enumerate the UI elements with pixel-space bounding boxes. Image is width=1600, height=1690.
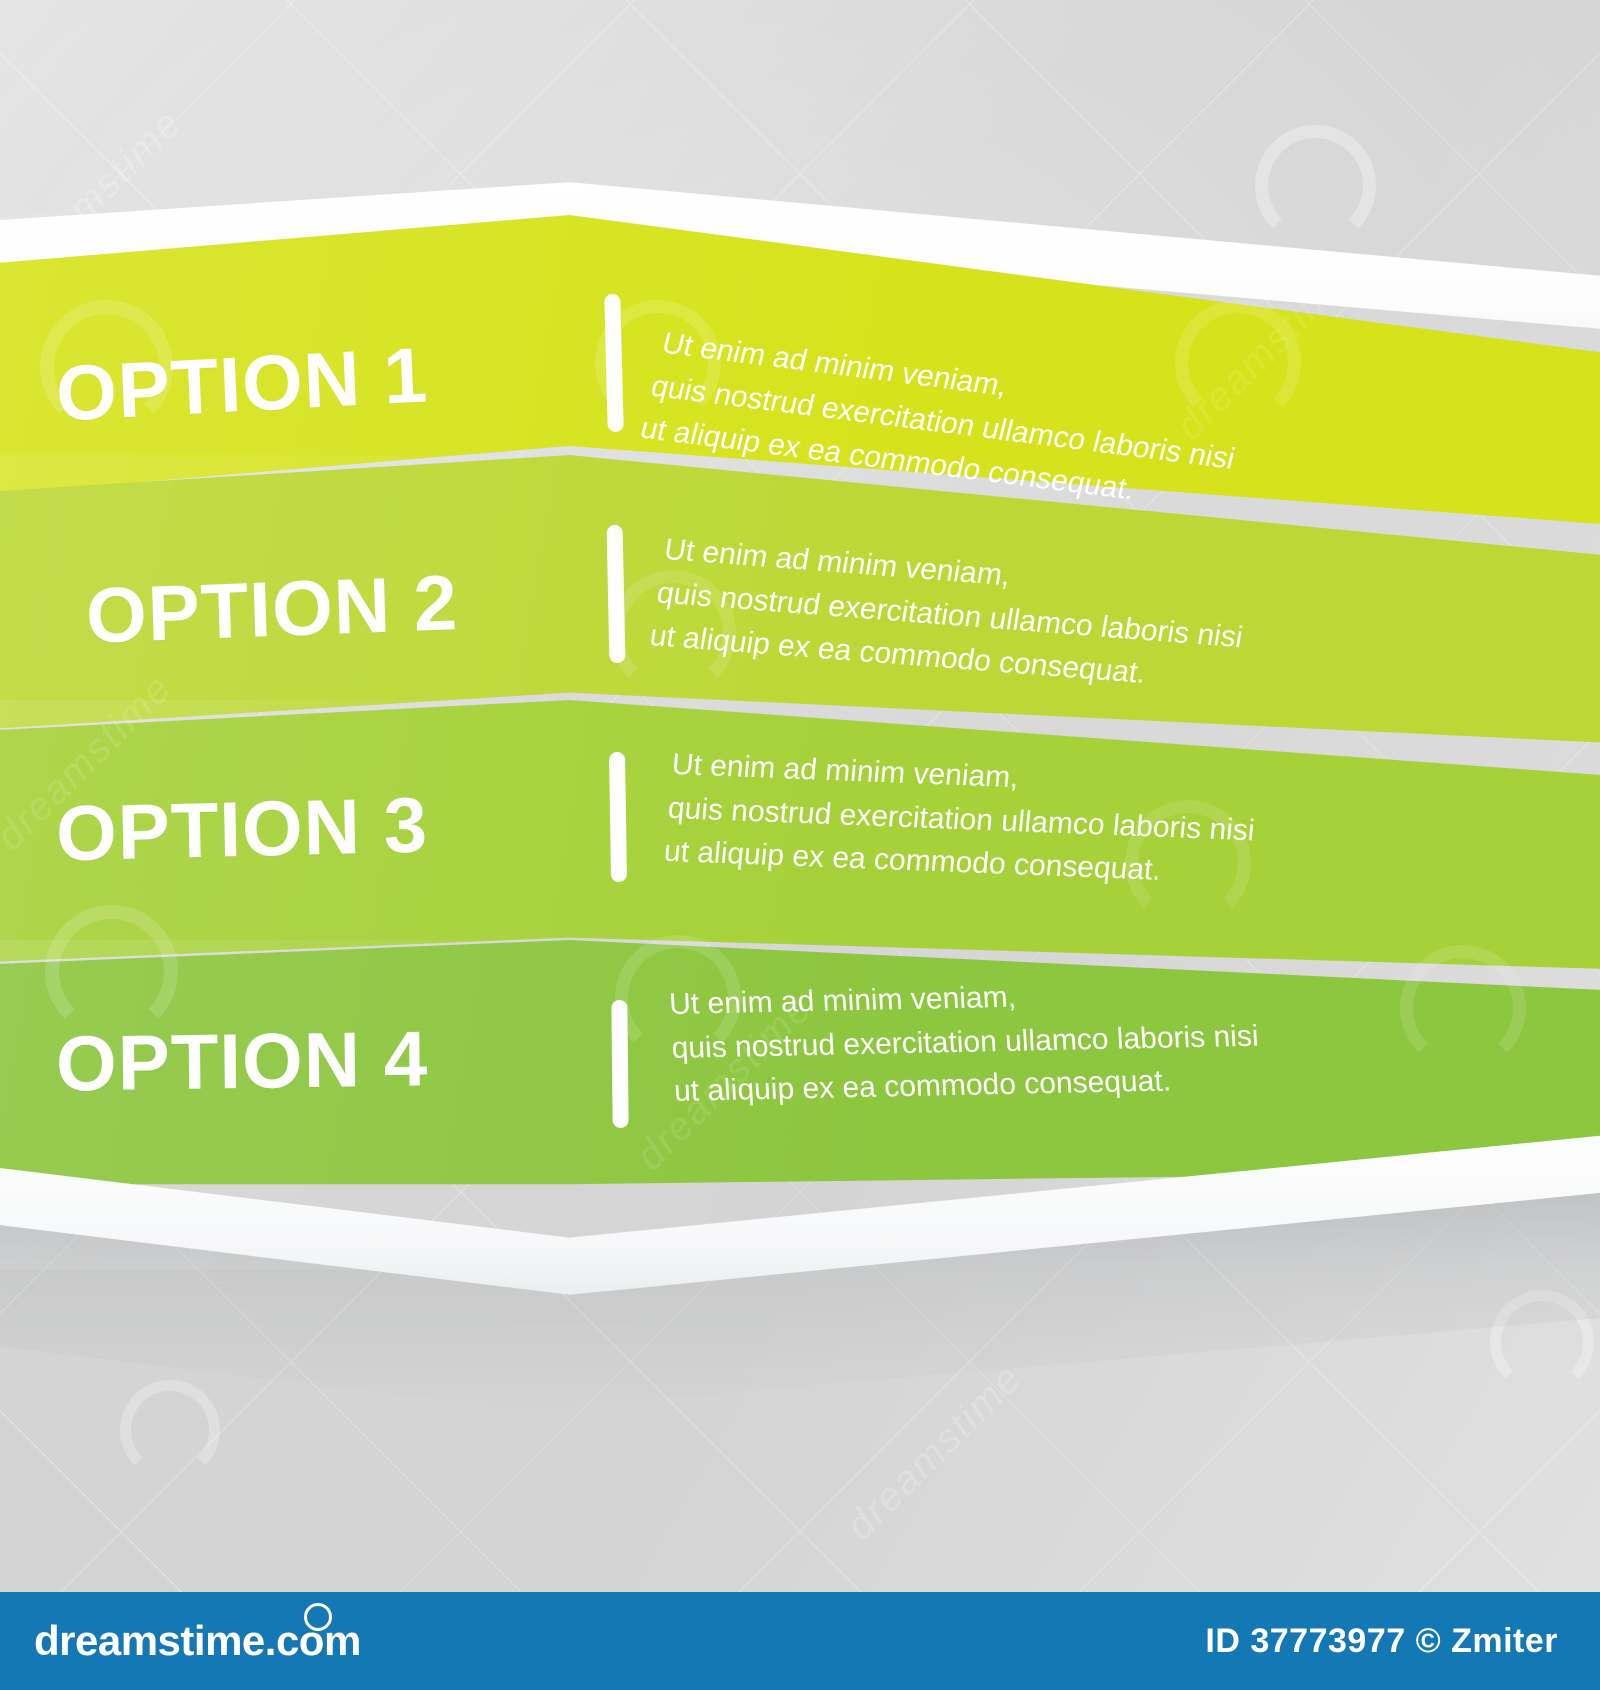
image-id-credit: ID 37773977 © Zmiter (1205, 1622, 1558, 1661)
option-4-divider-bar (611, 1000, 628, 1128)
dreamstime-logo: dreamstime.com (34, 1617, 361, 1665)
option-2-divider-bar (607, 525, 626, 663)
dreamstime-spiral-icon (304, 1603, 332, 1631)
option-2-title: OPTION 2 (85, 563, 459, 655)
option-3-body-text: Ut enim ad minim veniam, quis nostrud ex… (662, 743, 1393, 901)
infographic-canvas: dreamstime dreamstime dreamstime dreamst… (0, 0, 1600, 1690)
stock-footer-bar: dreamstime.com ID 37773977 © Zmiter (0, 1592, 1600, 1690)
option-4-title: OPTION 4 (56, 1019, 429, 1102)
option-1-title: OPTION 1 (55, 335, 430, 432)
option-3-divider-bar (609, 752, 627, 882)
option-4-body-text: Ut enim ad minim veniam, quis nostrud ex… (668, 968, 1395, 1113)
option-3-title: OPTION 3 (55, 785, 428, 872)
